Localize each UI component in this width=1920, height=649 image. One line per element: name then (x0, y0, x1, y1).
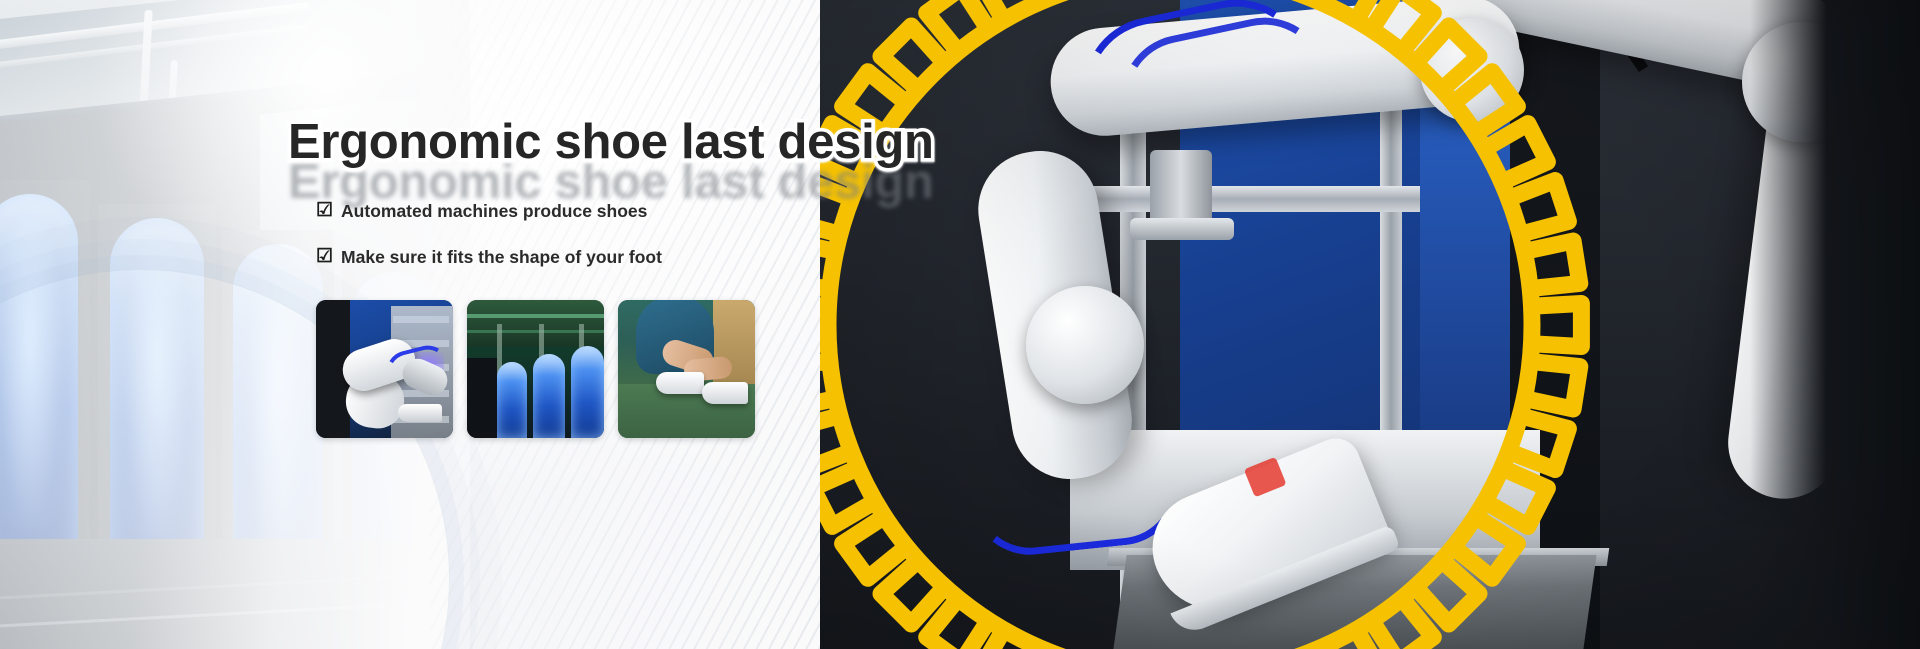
page-title: Ergonomic shoe last design (288, 118, 934, 167)
factory-blue-lit-machines-thumbnail[interactable] (467, 300, 604, 438)
thumb-dark-panel (467, 358, 497, 438)
thumb-white-shoe (702, 382, 748, 404)
rack-shelf (393, 316, 449, 323)
list-item: ☑ Automated machines produce shoes (316, 196, 662, 226)
checkbox-checked-icon: ☑ (316, 201, 333, 220)
thumb-pipe (467, 314, 604, 318)
feature-bullet-list: ☑ Automated machines produce shoes ☑ Mak… (316, 196, 662, 272)
checkbox-checked-icon: ☑ (316, 247, 333, 266)
hero-banner: Ergonomic shoe last design Ergonomic sho… (0, 0, 1920, 649)
thumb-blue-cabinet (533, 354, 565, 438)
headline-group: Ergonomic shoe last design Ergonomic sho… (288, 118, 934, 167)
thumbnail-gallery (316, 300, 755, 438)
banner-content: Ergonomic shoe last design Ergonomic sho… (0, 0, 1000, 649)
thumb-blue-cabinet (497, 362, 527, 438)
list-item: ☑ Make sure it fits the shape of your fo… (316, 242, 662, 272)
thumb-blue-cabinet (571, 346, 604, 438)
worker-inspecting-sneakers-thumbnail[interactable] (618, 300, 755, 438)
thumb-white-shoe (656, 372, 704, 394)
robotic-arm-shoe-production-thumbnail[interactable] (316, 300, 453, 438)
thumb-white-shoe (398, 404, 442, 422)
list-item-label: Automated machines produce shoes (341, 201, 647, 222)
list-item-label: Make sure it fits the shape of your foot (341, 247, 662, 268)
